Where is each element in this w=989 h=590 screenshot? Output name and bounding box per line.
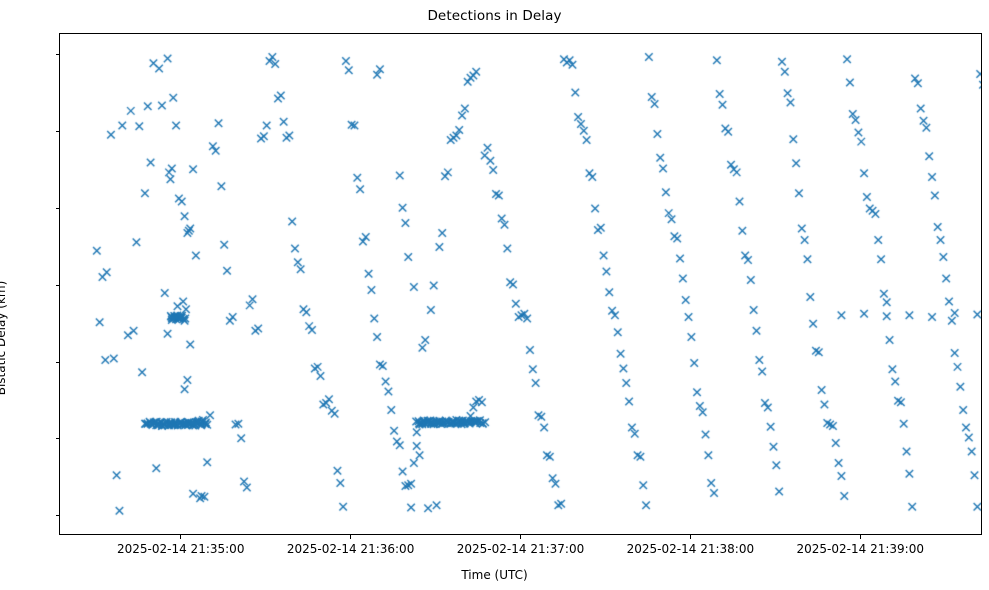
x-tick-label: 2025-02-14 21:39:00 <box>750 543 970 555</box>
x-axis-label: Time (UTC) <box>0 568 989 582</box>
scatter-plot-canvas <box>60 34 982 535</box>
y-tick-mark <box>56 208 60 209</box>
y-tick-mark <box>56 54 60 55</box>
page-title: Detections in Delay <box>0 8 989 24</box>
y-tick-mark <box>56 515 60 516</box>
y-tick-mark <box>56 131 60 132</box>
plot-axes-area <box>59 33 982 535</box>
y-axis-label: Bistatic Delay (km) <box>0 238 8 438</box>
x-tick-mark <box>180 535 181 539</box>
x-tick-mark <box>520 535 521 539</box>
y-tick-mark <box>56 285 60 286</box>
x-tick-mark <box>860 535 861 539</box>
y-tick-mark <box>56 362 60 363</box>
x-tick-mark <box>690 535 691 539</box>
y-tick-mark <box>56 438 60 439</box>
x-tick-mark <box>350 535 351 539</box>
matplotlib-figure: Detections in Delay Bistatic Delay (km) … <box>0 0 989 590</box>
